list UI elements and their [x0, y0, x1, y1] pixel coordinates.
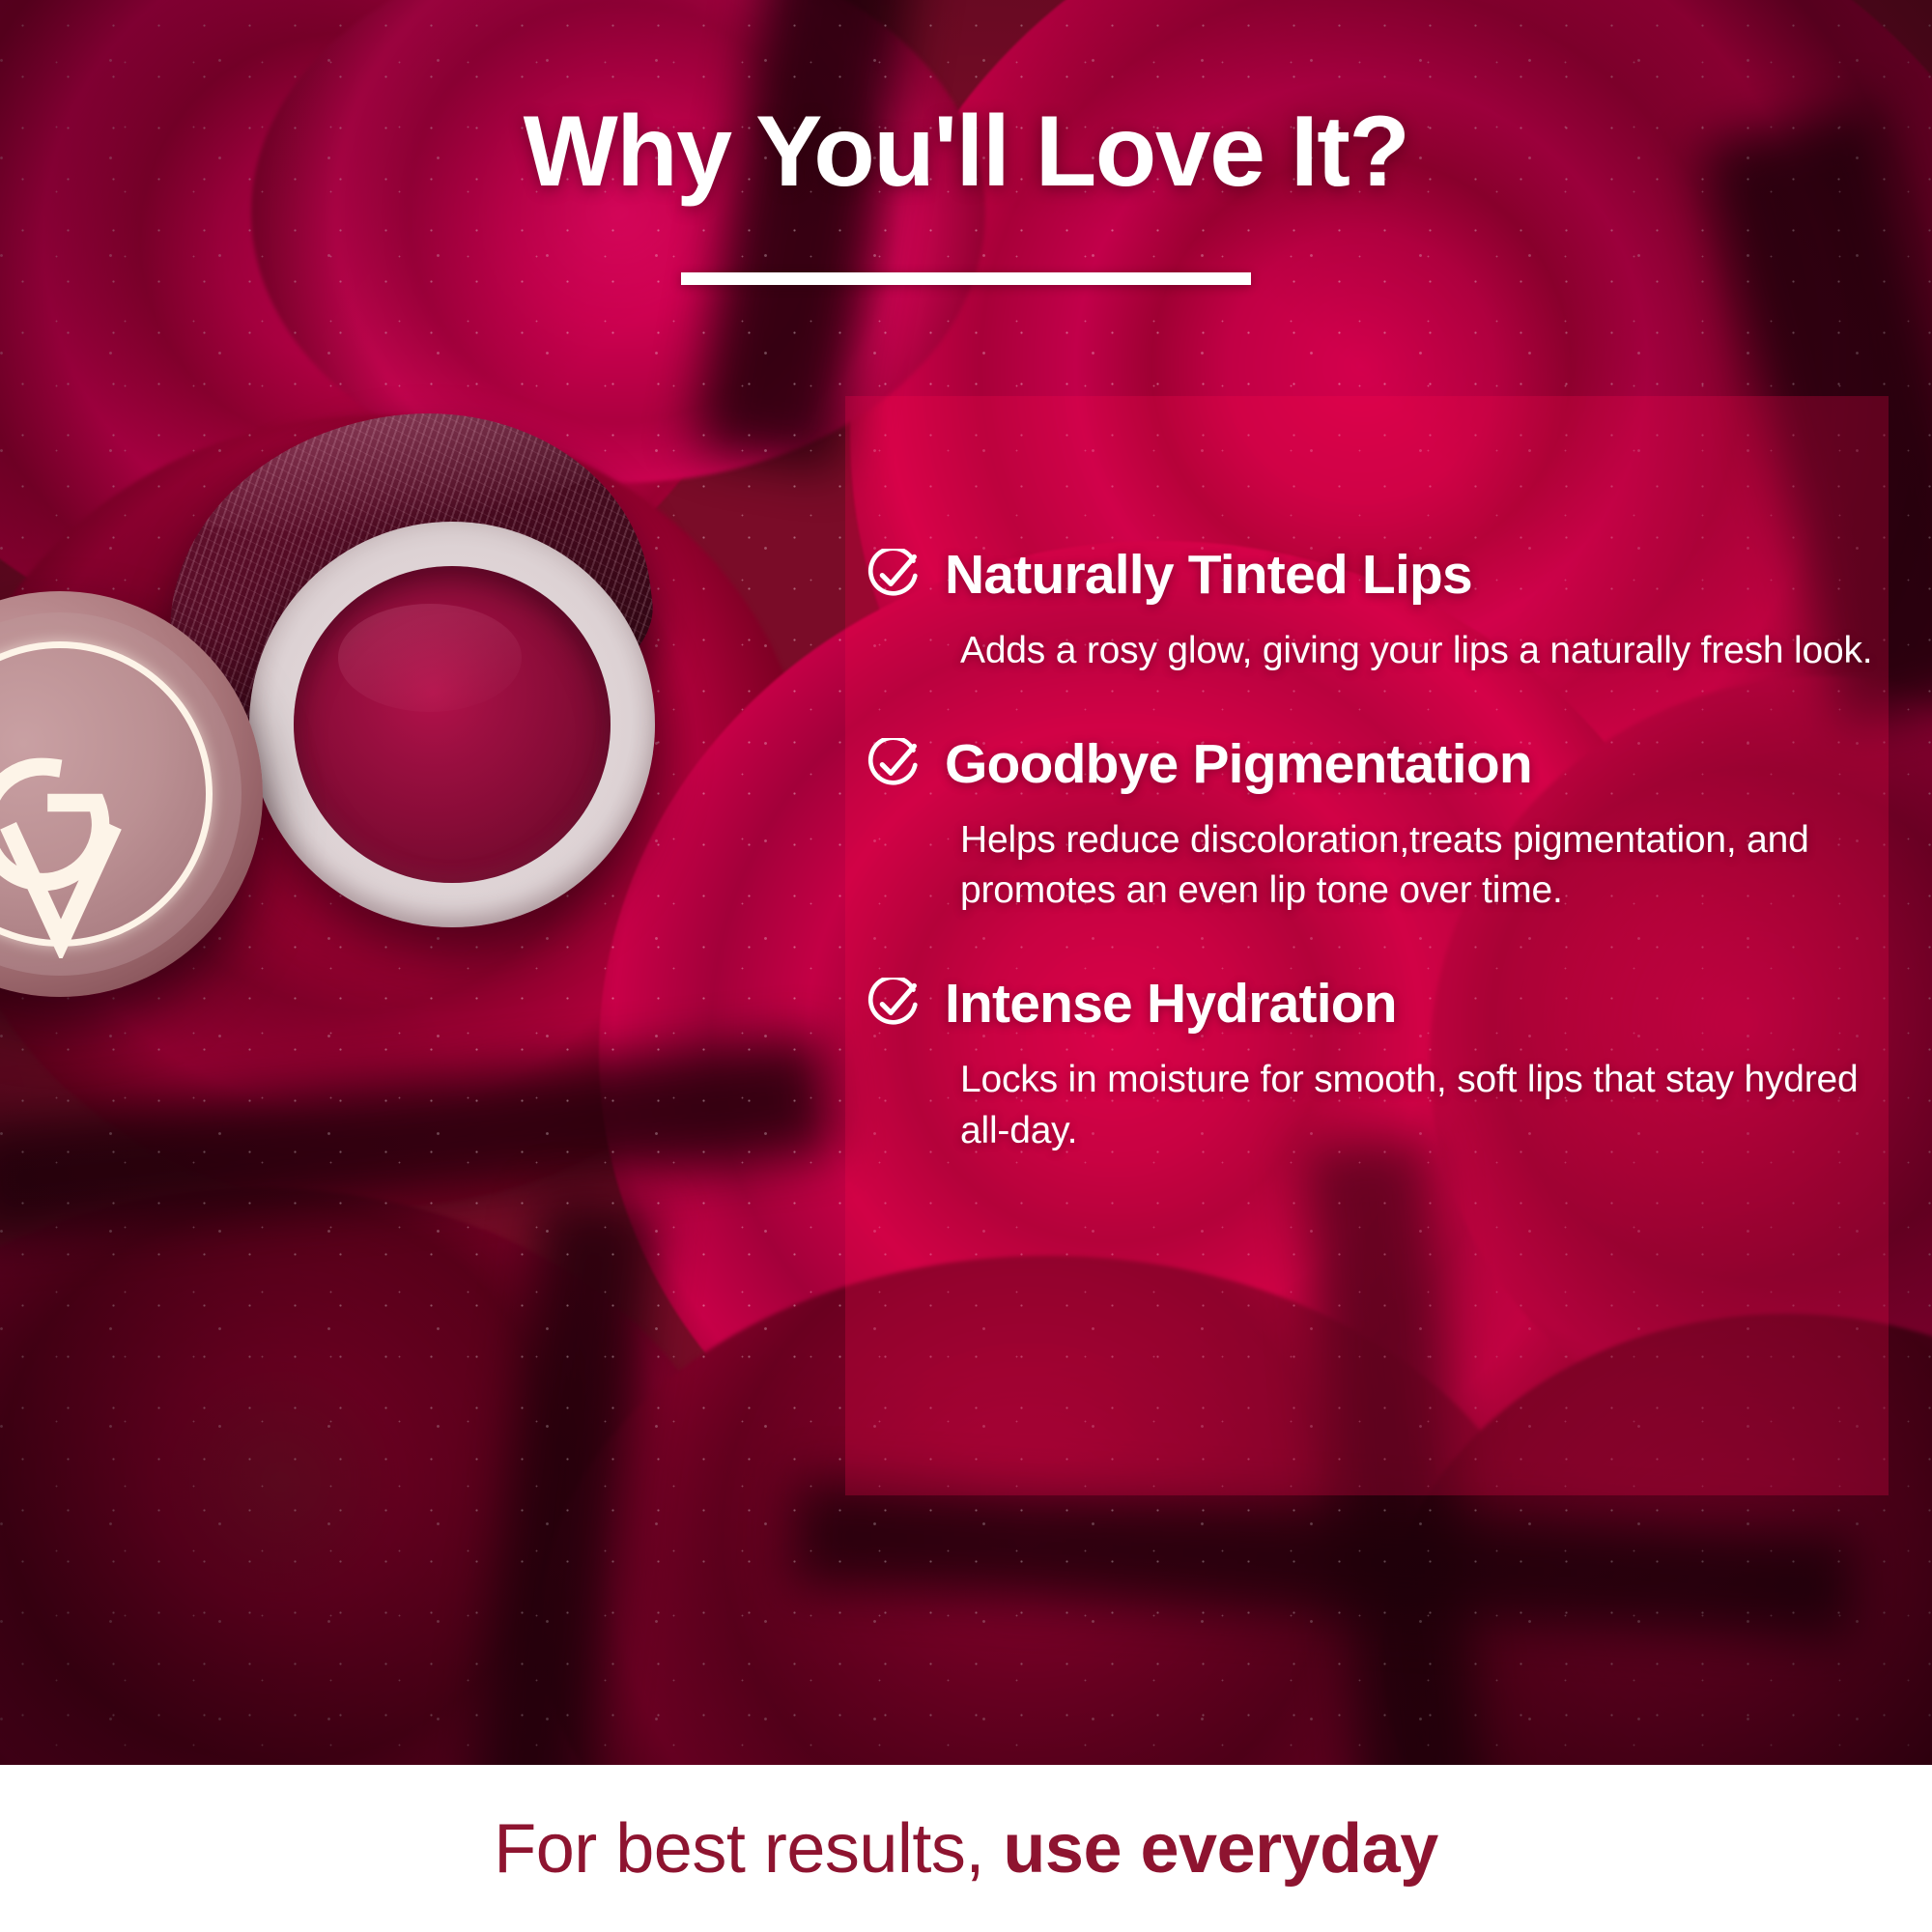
feature-heading-row: Naturally Tinted Lips	[866, 547, 1889, 605]
brand-monogram-icon	[0, 736, 172, 958]
title-underline-rule	[681, 272, 1251, 285]
feature-heading-row: Intense Hydration	[866, 976, 1889, 1034]
feature-description: Adds a rosy glow, giving your lips a nat…	[960, 626, 1888, 676]
feature-title: Goodbye Pigmentation	[945, 736, 1532, 794]
lip-balm-product-surface	[294, 566, 611, 883]
footer-tagline-regular: For best results,	[494, 1810, 1003, 1888]
check-circle-icon	[866, 549, 920, 603]
feature-item: Goodbye Pigmentation Helps reduce discol…	[866, 736, 1889, 916]
footer-tagline-bold: use everyday	[1003, 1810, 1437, 1888]
feature-description: Locks in moisture for smooth, soft lips …	[960, 1055, 1888, 1156]
page-title: Why You'll Love It?	[0, 95, 1932, 210]
feature-title: Intense Hydration	[945, 976, 1397, 1034]
feature-heading-row: Goodbye Pigmentation	[866, 736, 1889, 794]
feature-description: Helps reduce discoloration,treats pigmen…	[960, 815, 1888, 917]
lip-balm-jar-open	[249, 522, 655, 927]
feature-list: Naturally Tinted Lips Adds a rosy glow, …	[866, 547, 1889, 1156]
poster-canvas: Why You'll Love It? Naturally Tinted Lip…	[0, 0, 1932, 1932]
footer-tagline: For best results, use everyday	[494, 1809, 1438, 1889]
check-circle-icon	[866, 738, 920, 792]
feature-item: Naturally Tinted Lips Adds a rosy glow, …	[866, 547, 1889, 676]
feature-title: Naturally Tinted Lips	[945, 547, 1472, 605]
feature-item: Intense Hydration Locks in moisture for …	[866, 976, 1889, 1155]
footer-banner: For best results, use everyday	[0, 1765, 1932, 1932]
check-circle-icon	[866, 978, 920, 1032]
